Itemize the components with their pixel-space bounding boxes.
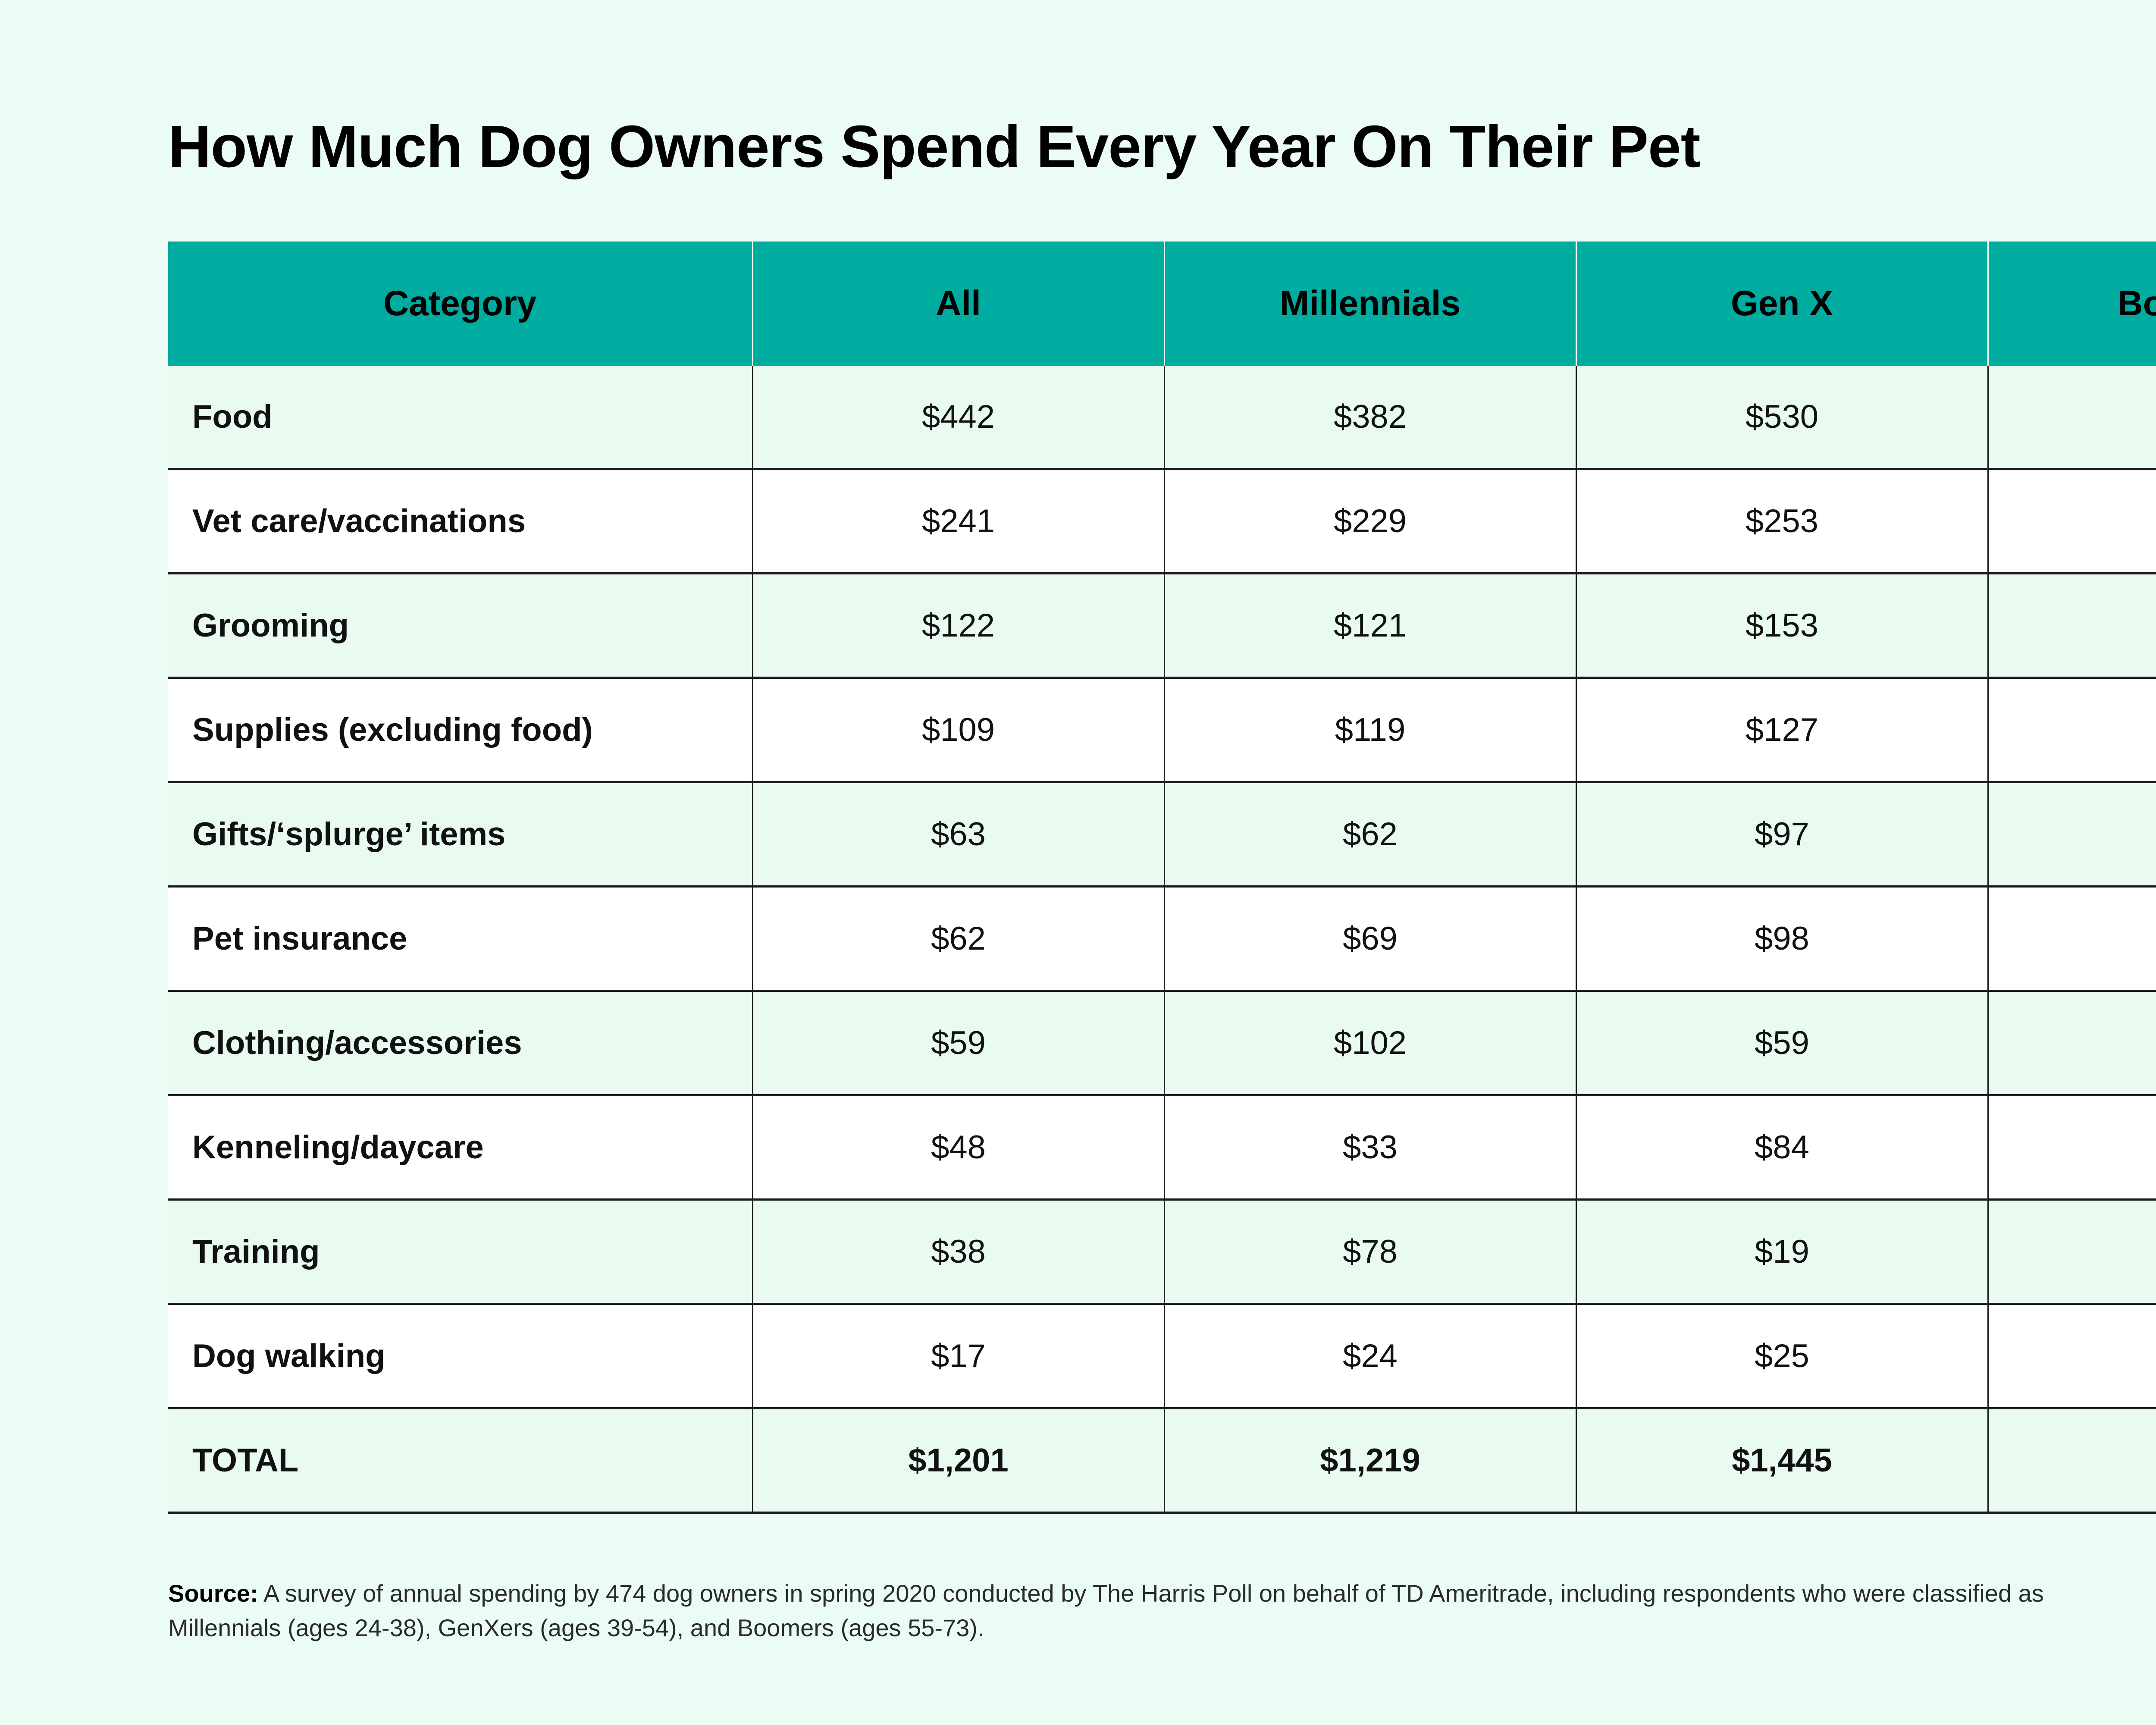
cell-grooming-boomers: $98	[1988, 574, 2156, 678]
row-label-training: Training	[168, 1200, 752, 1304]
row-label-pet-insurance: Pet insurance	[168, 887, 752, 991]
table-row: Supplies (excluding food) $109 $119 $127…	[168, 678, 2156, 782]
cell-training-genx: $19	[1576, 1200, 1988, 1304]
table-header-row: Category All Millennials Gen X Boomers	[168, 241, 2156, 366]
column-header-category[interactable]: Category	[168, 241, 752, 366]
cell-clothing-genx: $59	[1576, 991, 1988, 1095]
table-header: Category All Millennials Gen X Boomers	[168, 241, 2156, 366]
row-label-total: TOTAL	[168, 1408, 752, 1513]
cell-walking-all: $17	[752, 1304, 1164, 1408]
cell-total-millennials: $1,219	[1164, 1408, 1576, 1513]
table-row: Grooming $122 $121 $153 $98	[168, 574, 2156, 678]
table-row: Dog walking $17 $24 $25 $1	[168, 1304, 2156, 1408]
row-label-clothing: Clothing/accessories	[168, 991, 752, 1095]
cell-total-all: $1,201	[752, 1408, 1164, 1513]
cell-gifts-millennials: $62	[1164, 782, 1576, 887]
table-row: Vet care/vaccinations $241 $229 $253 $24…	[168, 469, 2156, 574]
cell-grooming-genx: $153	[1576, 574, 1988, 678]
cell-training-millennials: $78	[1164, 1200, 1576, 1304]
cell-walking-genx: $25	[1576, 1304, 1988, 1408]
cell-training-boomers: $12	[1988, 1200, 2156, 1304]
source-note: Source: A survey of annual spending by 4…	[168, 1576, 2152, 1645]
cell-clothing-millennials: $102	[1164, 991, 1576, 1095]
spending-table-container: Category All Millennials Gen X Boomers F…	[168, 241, 2156, 1514]
page-title: How Much Dog Owners Spend Every Year On …	[168, 116, 1700, 178]
column-header-genx[interactable]: Gen X	[1576, 241, 1988, 366]
cell-gifts-genx: $97	[1576, 782, 1988, 887]
cell-grooming-all: $122	[752, 574, 1164, 678]
source-label: Source:	[168, 1580, 258, 1607]
cell-vet-millennials: $229	[1164, 469, 1576, 574]
cell-gifts-boomers: $34	[1988, 782, 2156, 887]
row-label-grooming: Grooming	[168, 574, 752, 678]
row-label-supplies: Supplies (excluding food)	[168, 678, 752, 782]
cell-insurance-all: $62	[752, 887, 1164, 991]
cell-kenneling-all: $48	[752, 1095, 1164, 1200]
table-row: Kenneling/daycare $48 $33 $84 $33	[168, 1095, 2156, 1200]
cell-vet-boomers: $247	[1988, 469, 2156, 574]
row-label-kenneling: Kenneling/daycare	[168, 1095, 752, 1200]
cell-food-millennials: $382	[1164, 366, 1576, 469]
source-text: A survey of annual spending by 474 dog o…	[168, 1580, 2044, 1641]
cell-supplies-genx: $127	[1576, 678, 1988, 782]
cell-total-genx: $1,445	[1576, 1408, 1988, 1513]
cell-insurance-boomers: $18	[1988, 887, 2156, 991]
cell-clothing-boomers: $9	[1988, 991, 2156, 1095]
cell-supplies-boomers: $75	[1988, 678, 2156, 782]
cell-kenneling-millennials: $33	[1164, 1095, 1576, 1200]
cell-food-genx: $530	[1576, 366, 1988, 469]
cell-kenneling-genx: $84	[1576, 1095, 1988, 1200]
row-label-gifts-splurge: Gifts/‘splurge’ items	[168, 782, 752, 887]
cell-walking-boomers: $1	[1988, 1304, 2156, 1408]
cell-gifts-all: $63	[752, 782, 1164, 887]
spending-table: Category All Millennials Gen X Boomers F…	[168, 241, 2156, 1514]
cell-supplies-all: $109	[752, 678, 1164, 782]
cell-kenneling-boomers: $33	[1988, 1095, 2156, 1200]
cell-walking-millennials: $24	[1164, 1304, 1576, 1408]
cell-insurance-millennials: $69	[1164, 887, 1576, 991]
column-header-millennials[interactable]: Millennials	[1164, 241, 1576, 366]
row-label-vet-care: Vet care/vaccinations	[168, 469, 752, 574]
table-row: Clothing/accessories $59 $102 $59 $9	[168, 991, 2156, 1095]
table-body: Food $442 $382 $530 $417 Vet care/vaccin…	[168, 366, 2156, 1513]
column-header-all[interactable]: All	[752, 241, 1164, 366]
table-row-total: TOTAL $1,201 $1,219 $1,445 $944	[168, 1408, 2156, 1513]
cell-food-boomers: $417	[1988, 366, 2156, 469]
cell-grooming-millennials: $121	[1164, 574, 1576, 678]
infographic-page: How Much Dog Owners Spend Every Year On …	[0, 0, 2156, 1725]
column-header-boomers[interactable]: Boomers	[1988, 241, 2156, 366]
table-row: Gifts/‘splurge’ items $63 $62 $97 $34	[168, 782, 2156, 887]
table-row: Pet insurance $62 $69 $98 $18	[168, 887, 2156, 991]
row-label-food: Food	[168, 366, 752, 469]
table-row: Food $442 $382 $530 $417	[168, 366, 2156, 469]
cell-training-all: $38	[752, 1200, 1164, 1304]
cell-total-boomers: $944	[1988, 1408, 2156, 1513]
table-row: Training $38 $78 $19 $12	[168, 1200, 2156, 1304]
cell-supplies-millennials: $119	[1164, 678, 1576, 782]
cell-vet-genx: $253	[1576, 469, 1988, 574]
row-label-dog-walking: Dog walking	[168, 1304, 752, 1408]
cell-clothing-all: $59	[752, 991, 1164, 1095]
cell-insurance-genx: $98	[1576, 887, 1988, 991]
cell-food-all: $442	[752, 366, 1164, 469]
cell-vet-all: $241	[752, 469, 1164, 574]
